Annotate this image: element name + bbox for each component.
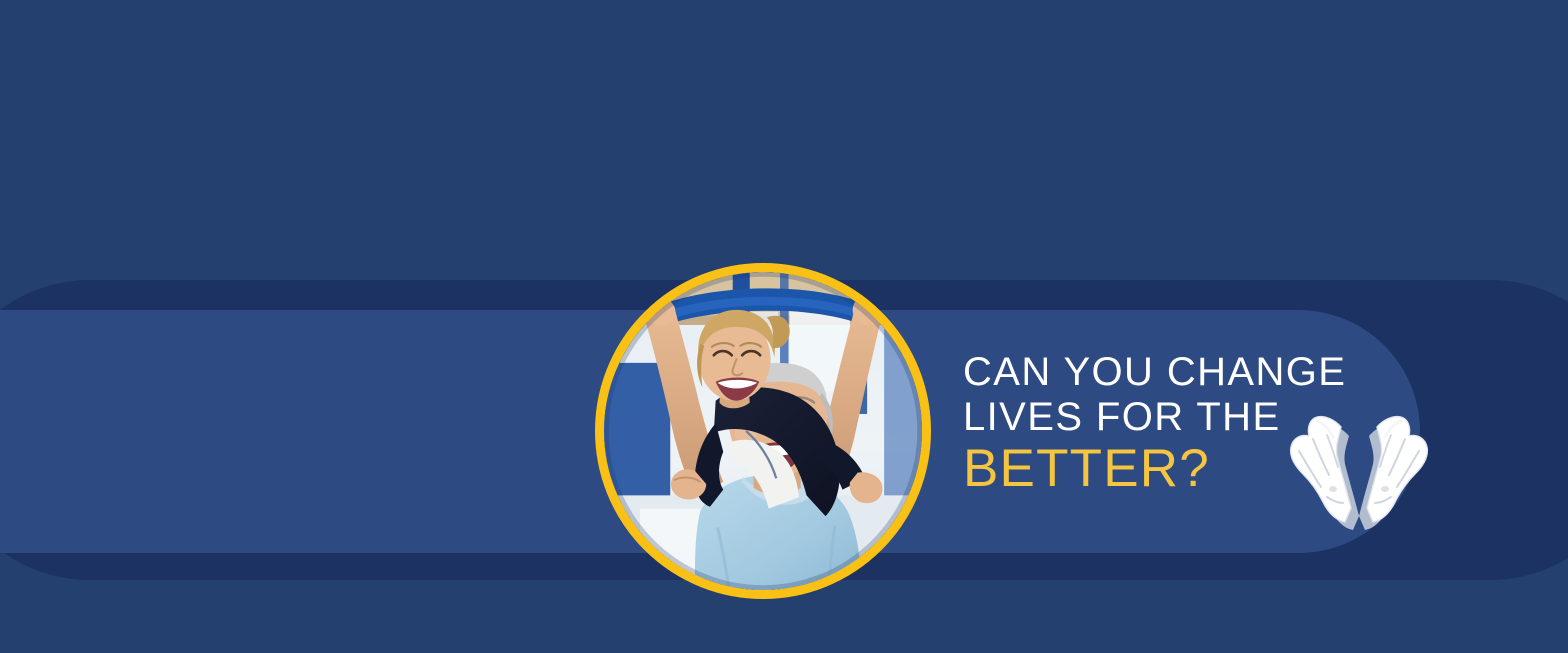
open-cupped-hands-icon <box>1283 415 1435 533</box>
photo-medallion <box>595 263 931 599</box>
therapy-photo <box>604 272 922 590</box>
headline-line-1: CAN YOU CHANGE <box>963 352 1383 392</box>
promo-banner: CAN YOU CHANGE LIVES FOR THE BETTER? <box>0 0 1568 653</box>
